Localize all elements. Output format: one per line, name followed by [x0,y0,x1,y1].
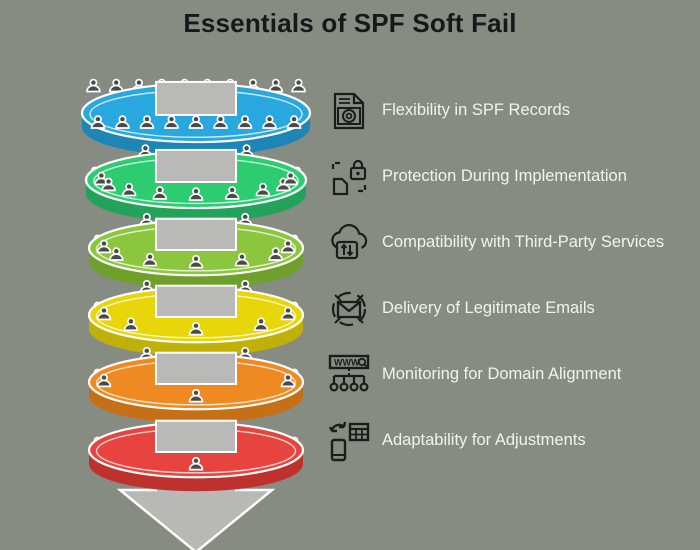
people-front-1 [92,116,301,128]
funnel-level-1[interactable] [82,80,310,157]
legend-list: Flexibility in SPF Records Protection Du… [326,78,696,474]
legend-item-5[interactable]: WWW Monitoring for Domain Alignment [326,342,696,408]
funnel-level-6[interactable] [89,421,303,492]
legend-label-5: Monitoring for Domain Alignment [382,364,621,385]
legend-label-1: Flexibility in SPF Records [382,100,570,121]
legend-label-2: Protection During Implementation [382,166,627,187]
funnel-level-2[interactable] [86,145,306,222]
cloud-settings-icon [326,219,372,267]
column-through-3 [156,219,236,250]
infographic-canvas: Essentials of SPF Soft Fail Flexibility … [0,0,700,550]
document-lock-icon [326,153,372,201]
column-through-2 [156,150,236,182]
column-through-1 [156,82,236,115]
legend-item-2[interactable]: Protection During Implementation [326,144,696,210]
column-through-5 [156,353,236,384]
legend-label-6: Adaptability for Adjustments [382,430,586,451]
column-through-6 [156,421,236,452]
funnel-level-3[interactable] [89,214,303,290]
legend-item-3[interactable]: Compatibility with Third-Party Services [326,210,696,276]
phone-table-sync-icon [326,417,372,465]
legend-label-3: Compatibility with Third-Party Services [382,232,664,253]
legend-label-4: Delivery of Legitimate Emails [382,298,595,319]
legend-item-1[interactable]: Flexibility in SPF Records [326,78,696,144]
funnel-level-5[interactable] [89,348,303,424]
www-sitemap-icon: WWW [326,351,372,399]
column-through-4 [156,286,236,317]
funnel-level-4[interactable] [89,281,303,357]
legend-item-6[interactable]: Adaptability for Adjustments [326,408,696,474]
legend-item-4[interactable]: Delivery of Legitimate Emails [326,276,696,342]
email-scan-icon [326,285,372,333]
document-scan-icon [326,87,372,135]
svg-text:WWW: WWW [334,358,360,368]
page-title: Essentials of SPF Soft Fail [0,8,700,39]
